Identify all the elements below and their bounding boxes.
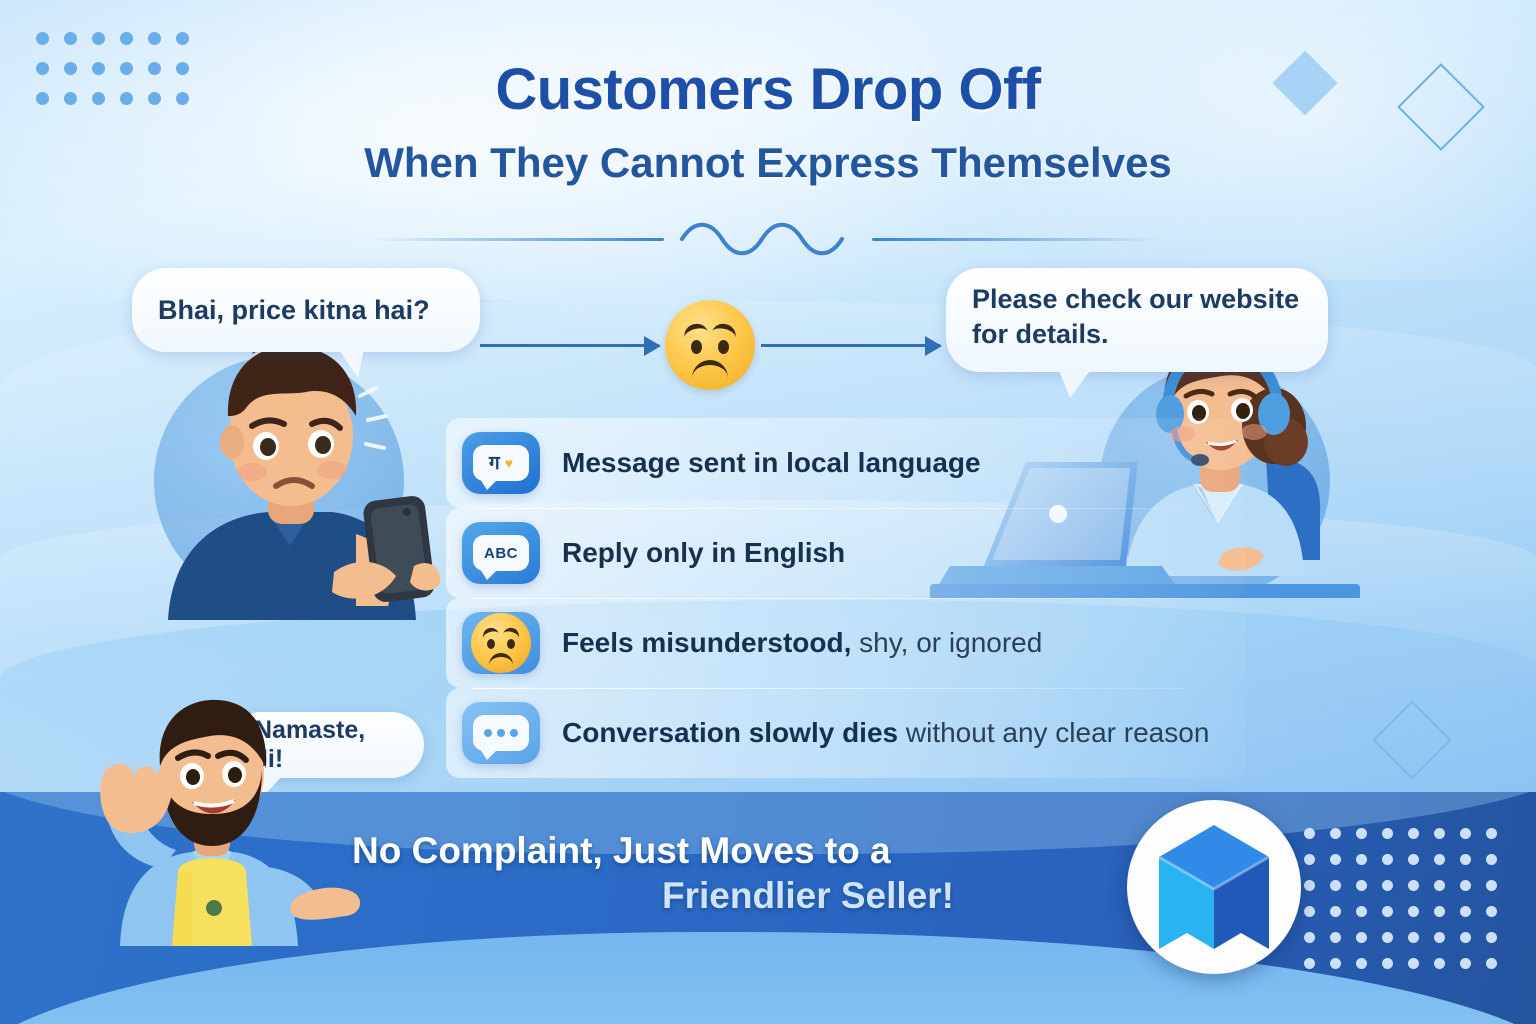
- list-item-rest: shy, or ignored: [851, 627, 1042, 658]
- conversation-flow: [480, 300, 940, 390]
- title-divider: [0, 222, 1536, 256]
- banner-line-2: Friendlier Seller!: [352, 873, 972, 918]
- arrow-right-second-icon: [761, 344, 940, 347]
- list-item-text: Reply only in English: [562, 537, 845, 569]
- customer-illustration: [120, 320, 460, 620]
- bottom-banner: No Complaint, Just Moves to a Friendlier…: [0, 792, 1536, 1024]
- page-title: Customers Drop Off: [0, 56, 1536, 123]
- abc-glyph: ABC: [484, 546, 518, 561]
- heart-glyph: ♥: [505, 455, 513, 471]
- list-item-text: Message sent in local language: [562, 447, 981, 479]
- banner-line-1: No Complaint, Just Moves to a: [352, 828, 972, 873]
- issue-list: ग ♥ Message sent in local language ABC R…: [446, 418, 1246, 778]
- list-item-text: Feels misunderstood, shy, or ignored: [562, 627, 1042, 659]
- list-item: ABC Reply only in English: [446, 508, 1246, 598]
- sad-face-emoji-icon: [462, 612, 540, 674]
- list-item-bold: Reply only in English: [562, 537, 845, 568]
- divider-line-left: [374, 238, 664, 241]
- agent-speech-text: Please check our website for details.: [972, 282, 1302, 351]
- banner-wave-bottom: [0, 932, 1536, 1024]
- speech-bubble-typing-dots-icon: [462, 702, 540, 764]
- list-item-bold: Message sent in local language: [562, 447, 981, 478]
- list-item-bold: Conversation slowly dies: [562, 717, 898, 748]
- isometric-cube-logo: [1127, 800, 1301, 974]
- title-block: Customers Drop Off When They Cannot Expr…: [0, 56, 1536, 187]
- infographic-poster: Customers Drop Off When They Cannot Expr…: [0, 0, 1536, 1024]
- speech-bubble-tail: [338, 348, 364, 378]
- divider-line-right: [872, 238, 1162, 241]
- diamond-outline-decoration-lower: [1372, 700, 1451, 779]
- speech-bubble-abc-icon: ABC: [462, 522, 540, 584]
- list-item: Feels misunderstood, shy, or ignored: [446, 598, 1246, 688]
- list-item-rest: without any clear reason: [898, 717, 1209, 748]
- speech-bubble-tail: [1058, 368, 1092, 398]
- local-script-glyph: ग: [489, 454, 500, 473]
- list-item: ग ♥ Message sent in local language: [446, 418, 1246, 508]
- list-item-bold: Feels misunderstood,: [562, 627, 851, 658]
- speech-bubble-local-script-icon: ग ♥: [462, 432, 540, 494]
- shopkeeper-speech-bubble: Namaste, Ji!: [228, 712, 424, 778]
- list-item: Conversation slowly dies without any cle…: [446, 688, 1246, 778]
- banner-text: No Complaint, Just Moves to a Friendlier…: [352, 828, 972, 918]
- dot-grid-banner-right: [1304, 828, 1512, 984]
- worried-face-emoji: [665, 300, 755, 390]
- customer-speech-text: Bhai, price kitna hai?: [158, 295, 430, 326]
- agent-speech-bubble: Please check our website for details.: [946, 268, 1328, 372]
- list-item-text: Conversation slowly dies without any cle…: [562, 717, 1209, 749]
- shopkeeper-speech-text: Namaste, Ji!: [254, 716, 398, 774]
- squiggle-ornament-icon: [678, 222, 858, 256]
- arrow-right-first-icon: [480, 344, 659, 347]
- customer-speech-bubble: Bhai, price kitna hai?: [132, 268, 480, 352]
- page-subtitle: When They Cannot Express Themselves: [0, 139, 1536, 187]
